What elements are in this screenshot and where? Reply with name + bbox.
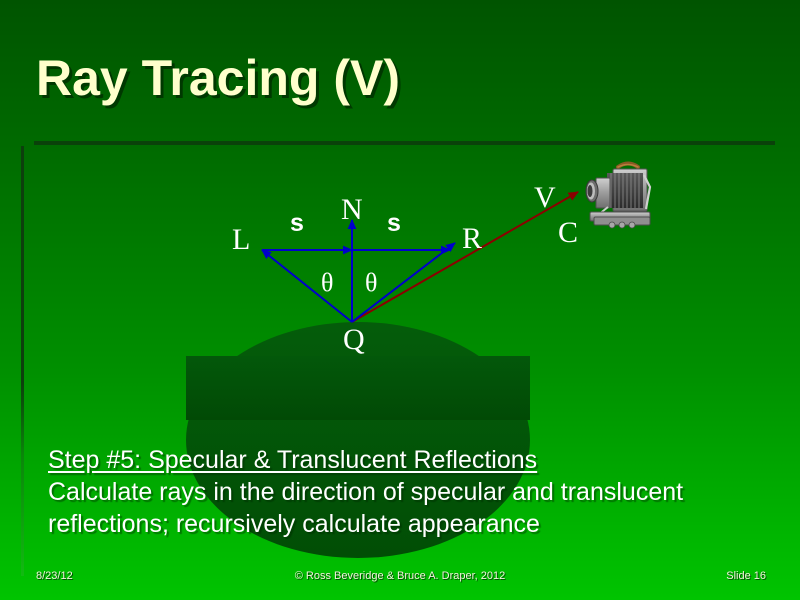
footer-slide-number: Slide 16	[0, 570, 766, 582]
label-theta-incident: θ	[321, 268, 333, 298]
label-reflection-vector: R	[462, 224, 482, 254]
label-theta-reflected: θ	[365, 268, 377, 298]
slide-canvas: Ray Tracing (V)	[0, 0, 800, 600]
light-ray-line	[262, 250, 352, 322]
label-normal-vector: N	[341, 195, 363, 225]
label-surface-point: Q	[343, 325, 365, 355]
label-view-vector: V	[534, 183, 556, 213]
view-camera-icon	[578, 157, 662, 239]
body-detail-text: Calculate rays in the direction of specu…	[48, 476, 758, 540]
label-s-left: s	[290, 208, 304, 238]
slide-body-text: Step #5: Specular & Translucent Reflecti…	[48, 444, 758, 540]
body-lead-line: Step #5: Specular & Translucent Reflecti…	[48, 444, 758, 476]
label-camera-center: C	[558, 218, 578, 248]
label-s-right: s	[387, 208, 401, 238]
label-light-vector: L	[232, 225, 250, 255]
